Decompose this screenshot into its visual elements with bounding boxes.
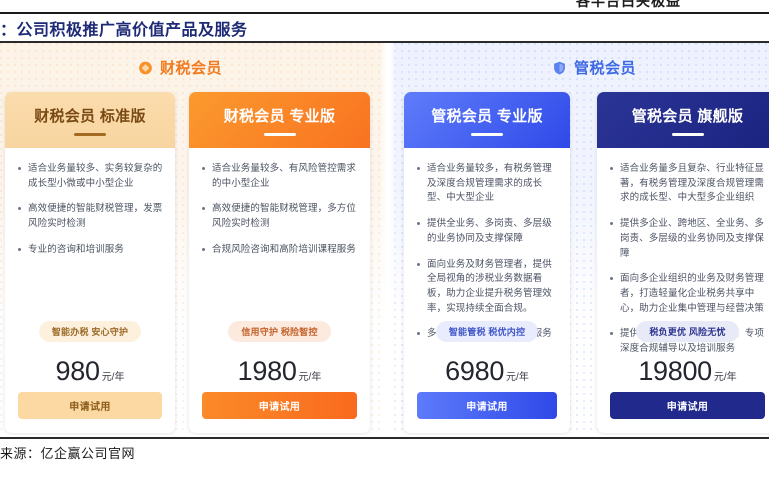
group-caption-caishui: 财税会员: [138, 57, 222, 78]
apply-trial-button[interactable]: 申请试用: [417, 392, 557, 419]
bottom-divider-rule: [0, 437, 769, 439]
shield-icon: [552, 60, 567, 76]
plan-price-unit: 元/年: [714, 368, 737, 383]
figure-title: ：公司积极推广高价值产品及服务: [0, 16, 248, 38]
status-badge: 税负更优 风险无忧: [636, 321, 738, 342]
pricing-panel: 财税会员 管税会员 财税会员 标准版 适合业务量较多、实务较复杂的成长型小微或中…: [0, 43, 769, 435]
list-item: 面向多企业组织的业务及财务管理者，打造轻量化企业税务共享中心，助力企业集中管理与…: [610, 272, 767, 316]
diamond-icon: [138, 60, 153, 76]
plan-price: 6980 元/年: [445, 356, 529, 387]
plan-price-unit: 元/年: [506, 368, 529, 383]
list-item: 面向业务及财务管理者，提供全局视角的涉税业务数据看板，助力企业提升税务管理效率，…: [417, 258, 559, 317]
list-item: 适合业务量较多，有税务管理及深度合规管理需求的成长型、中大型企业: [417, 162, 559, 206]
plan-price-unit: 元/年: [102, 368, 125, 383]
plan-feature-list: 适合业务量较多、实务较复杂的成长型小微或中小型企业 高效便捷的智能财税管理，发票…: [5, 148, 175, 258]
plan-card-header: 管税会员 旗舰版: [597, 92, 769, 148]
apply-trial-button[interactable]: 申请试用: [610, 392, 765, 419]
list-item: 专业的咨询和培训服务: [18, 243, 164, 258]
plan-title: 管税会员 专业版: [431, 105, 543, 126]
top-divider-rule: [0, 12, 769, 14]
group-caption-guanshui: 管税会员: [552, 57, 636, 78]
plan-card-footer: 智能管税 税优内控 6980 元/年 申请试用: [404, 315, 570, 433]
title-underline: [672, 133, 704, 136]
title-underline: [74, 133, 106, 136]
status-badge: 智能管税 税优内控: [436, 321, 538, 342]
plan-price-amount: 6980: [445, 356, 504, 387]
plan-title: 财税会员 标准版: [34, 105, 146, 126]
apply-trial-button[interactable]: 申请试用: [202, 392, 357, 419]
plan-title: 管税会员 旗舰版: [632, 105, 744, 126]
list-item: 合规风险咨询和高阶培训课程服务: [202, 243, 359, 258]
source-caption: 来源：亿企赢公司官网: [0, 443, 135, 465]
list-item: 适合业务量多且复杂、行业特征显著，有税务管理及深度合规管理需求的成长型、中大型多…: [610, 162, 767, 206]
plan-title: 财税会员 专业版: [224, 105, 336, 126]
plan-card-footer: 智能办税 安心守护 980 元/年 申请试用: [5, 315, 175, 433]
plan-price-amount: 19800: [638, 356, 712, 387]
plan-card-header: 财税会员 专业版: [189, 92, 370, 148]
list-item: 提供多企业、跨地区、全业务、多岗责、多层级的业务协同及支撑保障: [610, 217, 767, 261]
list-item: 高效便捷的智能财税管理，多方位风险实时检测: [202, 202, 359, 231]
plan-price-unit: 元/年: [299, 368, 322, 383]
title-underline: [264, 133, 296, 136]
list-item: 适合业务量较多、有风险管控需求的中小型企业: [202, 162, 359, 191]
list-item: 高效便捷的智能财税管理，发票风险实时检测: [18, 202, 164, 231]
group-caption-caishui-label: 财税会员: [160, 57, 222, 78]
plan-price: 980 元/年: [56, 356, 125, 387]
list-item: 适合业务量较多、实务较复杂的成长型小微或中小型企业: [18, 162, 164, 191]
plan-price: 19800 元/年: [638, 356, 736, 387]
plan-card-professional-guanshui[interactable]: 管税会员 专业版 适合业务量较多，有税务管理及深度合规管理需求的成长型、中大型企…: [404, 92, 570, 433]
list-item: 提供全业务、多岗责、多层级的业务协同及支撑保障: [417, 217, 559, 246]
plan-price: 1980 元/年: [238, 356, 322, 387]
title-underline: [471, 133, 503, 136]
plan-feature-list: 适合业务量较多、有风险管控需求的中小型企业 高效便捷的智能财税管理，多方位风险实…: [189, 148, 370, 258]
plan-card-header: 管税会员 专业版: [404, 92, 570, 148]
plan-price-amount: 1980: [238, 356, 297, 387]
plan-card-header: 财税会员 标准版: [5, 92, 175, 148]
plan-card-flagship[interactable]: 管税会员 旗舰版 适合业务量多且复杂、行业特征显著，有税务管理及深度合规管理需求…: [597, 92, 769, 433]
plan-card-footer: 税负更优 风险无忧 19800 元/年 申请试用: [597, 315, 769, 433]
group-caption-guanshui-label: 管税会员: [574, 57, 636, 78]
plan-feature-list: 适合业务量较多，有税务管理及深度合规管理需求的成长型、中大型企业 提供全业务、多…: [404, 148, 570, 342]
plan-card-standard[interactable]: 财税会员 标准版 适合业务量较多、实务较复杂的成长型小微或中小型企业 高效便捷的…: [5, 92, 175, 433]
top-clipped-text: 各半台白夹极益: [576, 0, 681, 11]
status-badge: 智能办税 安心守护: [39, 321, 141, 342]
plan-card-professional-caishui[interactable]: 财税会员 专业版 适合业务量较多、有风险管控需求的中小型企业 高效便捷的智能财税…: [189, 92, 370, 433]
plan-price-amount: 980: [56, 356, 100, 387]
plan-card-footer: 信用守护 税险智控 1980 元/年 申请试用: [189, 315, 370, 433]
status-badge: 信用守护 税险智控: [228, 321, 330, 342]
apply-trial-button[interactable]: 申请试用: [18, 392, 162, 419]
panel-background-seam: [380, 43, 396, 435]
